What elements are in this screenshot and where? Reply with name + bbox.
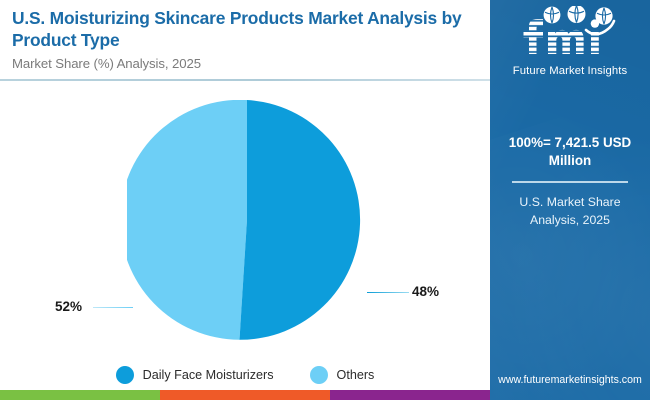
legend-swatch-icon (116, 366, 134, 384)
pie-chart-plot: 48% 52% (0, 80, 490, 352)
chart-header: U.S. Moisturizing Skincare Products Mark… (0, 0, 490, 79)
website-url[interactable]: www.futuremarketinsights.com (490, 374, 650, 386)
fmi-logo[interactable]: Future Market Insights (490, 6, 650, 77)
fmi-logo-icon (507, 6, 633, 64)
legend-label: Others (337, 368, 375, 382)
strip-segment-orange (160, 390, 330, 400)
strip-segment-green (0, 390, 160, 400)
pie-chart (127, 100, 367, 340)
fmi-logo-tagline: Future Market Insights (490, 65, 650, 77)
legend-label: Daily Face Moisturizers (143, 368, 274, 382)
footer-color-strip (0, 390, 490, 400)
strip-segment-purple (330, 390, 490, 400)
leader-line-left (93, 307, 133, 308)
pie-label-daily-face-moisturizers: 48% (412, 284, 439, 299)
chart-main-area: U.S. Moisturizing Skincare Products Mark… (0, 0, 490, 388)
sidebar-caption: U.S. Market Share Analysis, 2025 (502, 194, 638, 230)
chart-infographic: U.S. Moisturizing Skincare Products Mark… (0, 0, 650, 400)
total-value-label: 100%= 7,421.5 USD Million (500, 134, 640, 169)
sidebar-divider (512, 181, 628, 183)
leader-line-right (367, 292, 409, 293)
chart-subtitle: Market Share (%) Analysis, 2025 (12, 56, 476, 71)
pie-slice-daily-face-moisturizers (240, 100, 361, 340)
legend-item-others[interactable]: Others (310, 366, 375, 384)
legend-swatch-icon (310, 366, 328, 384)
legend-item-daily-face-moisturizers[interactable]: Daily Face Moisturizers (116, 366, 274, 384)
page-title: U.S. Moisturizing Skincare Products Mark… (12, 8, 476, 52)
chart-legend: Daily Face Moisturizers Others (0, 362, 490, 388)
brand-sidebar: Future Market Insights 100%= 7,421.5 USD… (490, 0, 650, 400)
pie-label-others: 52% (55, 299, 82, 314)
pie-slice-others (127, 100, 247, 340)
